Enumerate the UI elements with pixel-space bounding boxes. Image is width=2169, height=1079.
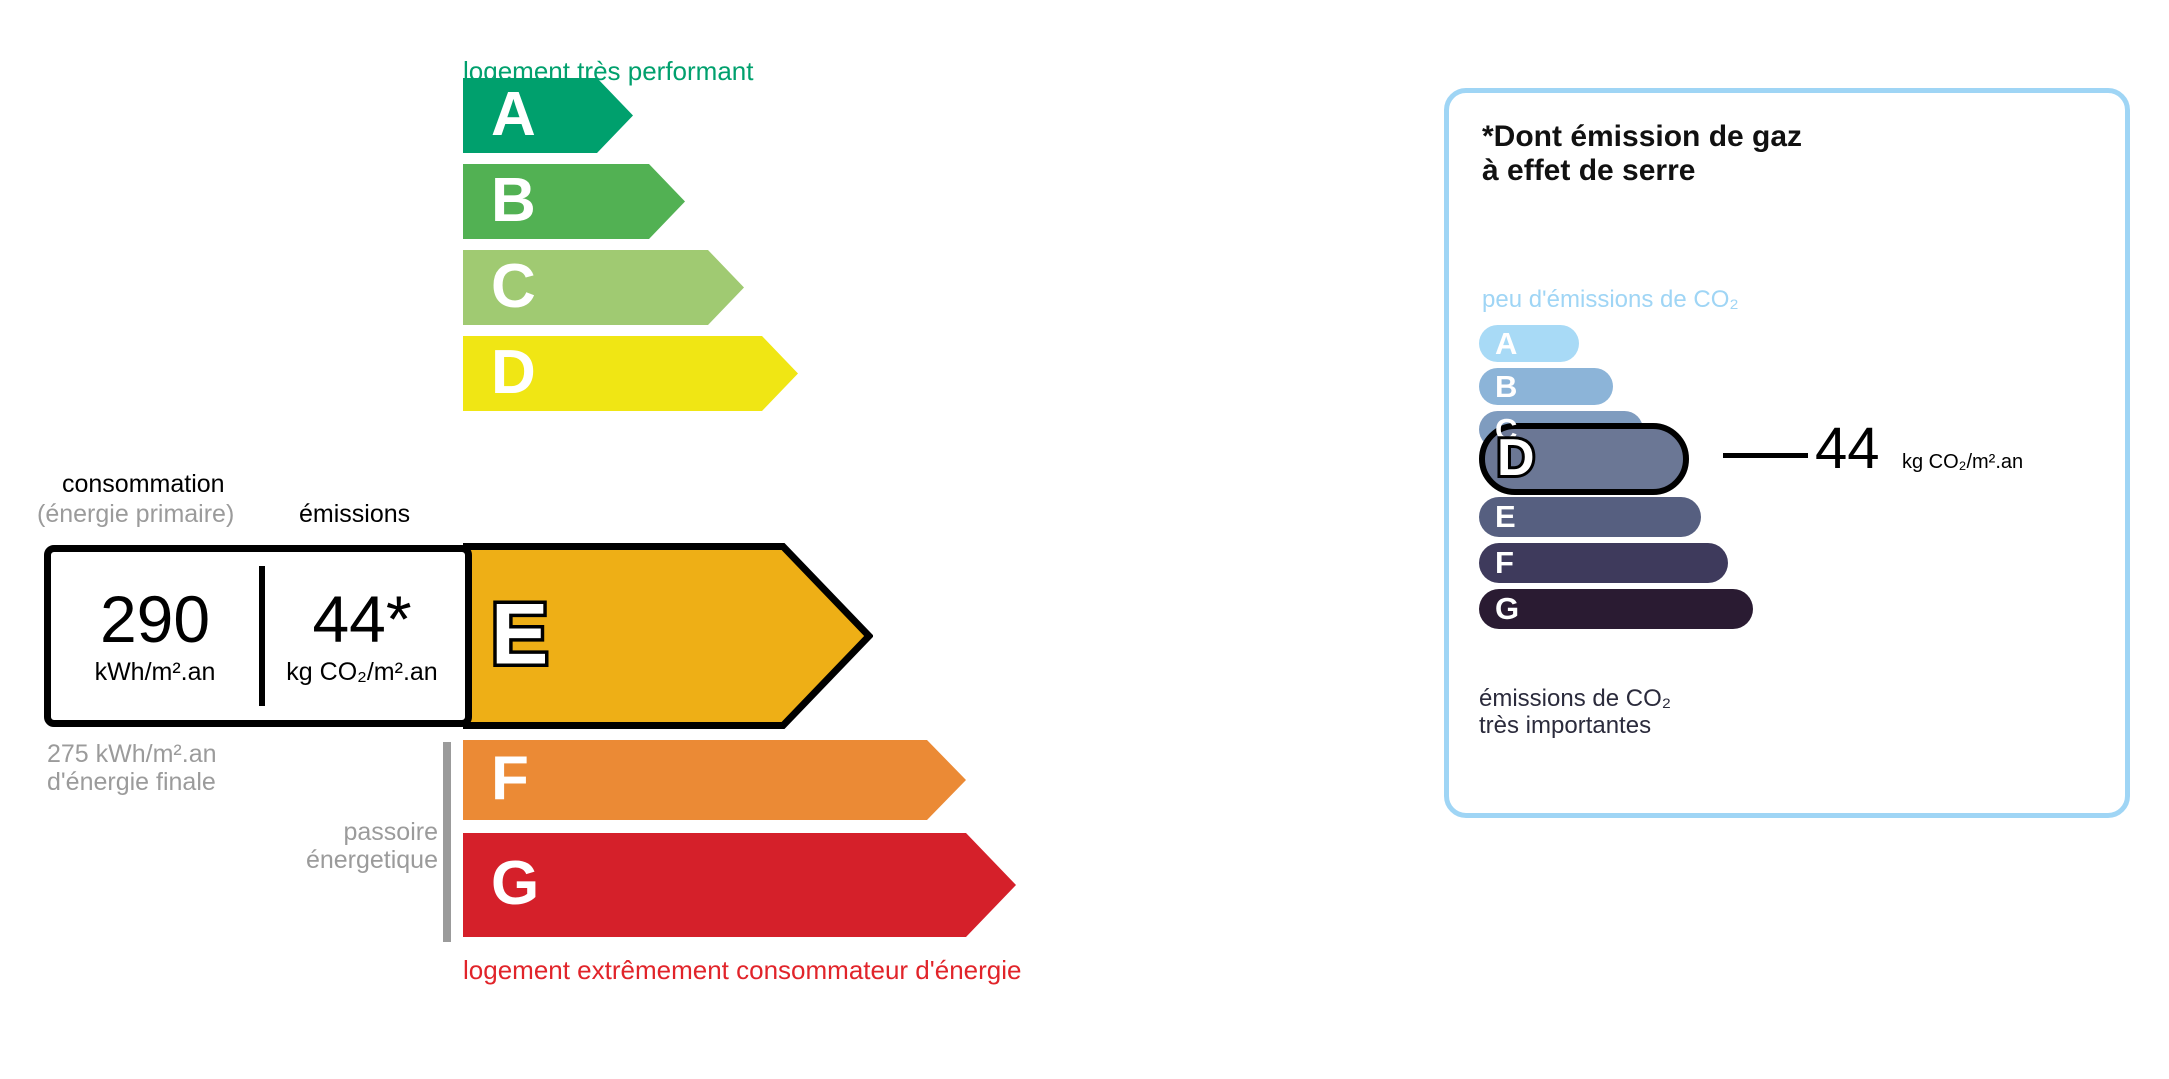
co2-bar-a: A — [1479, 325, 1579, 362]
co2-emissions-panel: *Dont émission de gaz à effet de serre p… — [1444, 88, 2130, 818]
co2-bar-b: B — [1479, 368, 1613, 405]
label-energie-primaire: (énergie primaire) — [37, 500, 234, 529]
primary-energy-cell: 290 kWh/m².an — [51, 552, 259, 720]
primary-energy-value: 290 — [100, 586, 210, 652]
primary-energy-unit: kWh/m².an — [95, 658, 216, 687]
co2-bar-letter-e: E — [1495, 501, 1516, 532]
energy-performance-chart: logement très performant A B C — [0, 0, 1400, 1079]
co2-bar-g: G — [1479, 589, 1753, 629]
energy-bar-letter-c: C — [491, 255, 536, 317]
co2-bar-letter-f: F — [1495, 547, 1514, 578]
energy-bar-letter-d: D — [491, 341, 536, 403]
energy-bar-letter-b: B — [491, 169, 536, 231]
passoire-divider-rule — [443, 742, 451, 942]
co2-bar-e: E — [1479, 497, 1701, 537]
co2-value-cell: 44* kg CO₂/m².an — [259, 552, 465, 720]
label-emissions: émissions — [299, 500, 410, 529]
energy-bar-letter-f: F — [491, 748, 529, 810]
co2-bottom-caption: émissions de CO₂ très importantes — [1479, 686, 1671, 740]
energy-bar-a: A — [463, 78, 633, 153]
arrow-shape-g — [463, 833, 1016, 937]
co2-bar-f: F — [1479, 543, 1728, 583]
energy-bar-g: G — [463, 833, 1016, 937]
energy-bar-letter-e: E — [491, 591, 548, 677]
value-box: 290 kWh/m².an 44* kg CO₂/m².an — [44, 545, 472, 727]
co2-callout-value: 44 — [1815, 420, 1880, 478]
co2-emission-unit: kg CO₂/m².an — [286, 658, 437, 687]
co2-bar-letter-d: D — [1497, 432, 1535, 484]
energy-bar-letter-g: G — [491, 853, 539, 915]
energy-bottom-caption: logement extrêmement consommateur d'éner… — [463, 955, 1021, 986]
co2-top-caption: peu d'émissions de CO₂ — [1482, 286, 1739, 314]
arrow-shape-a — [463, 78, 633, 153]
co2-bar-letter-g: G — [1495, 593, 1519, 624]
energy-bar-f: F — [463, 740, 966, 820]
label-consommation: consommation — [62, 470, 225, 499]
co2-bar-letter-a: A — [1495, 327, 1517, 358]
energy-bar-c: C — [463, 250, 744, 325]
co2-panel-title: *Dont émission de gaz à effet de serre — [1482, 120, 1802, 188]
note-passoire-energetique: passoire énergetique — [268, 818, 438, 874]
co2-emission-value: 44* — [312, 586, 411, 652]
energy-bar-b: B — [463, 164, 685, 239]
co2-leader-line — [1723, 453, 1808, 458]
energy-bar-d: D — [463, 336, 798, 411]
arrow-shape-f — [463, 740, 966, 820]
co2-bar-d-active: D — [1479, 423, 1689, 495]
co2-callout-unit: kg CO₂/m².an — [1902, 451, 2023, 474]
energy-bar-letter-a: A — [491, 83, 536, 145]
note-final-energy: 275 kWh/m².an d'énergie finale — [47, 740, 217, 796]
energy-bar-e-active: E — [463, 543, 873, 729]
co2-bar-letter-b: B — [1495, 370, 1517, 401]
